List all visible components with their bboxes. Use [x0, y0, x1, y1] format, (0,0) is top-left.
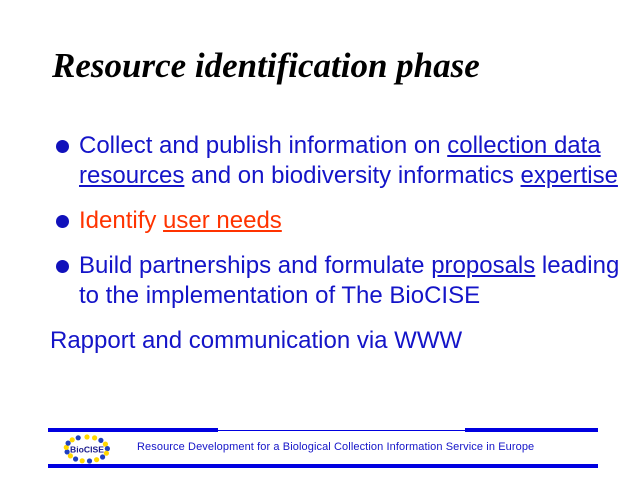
bullet-item-1: Collect and publish information on colle…: [48, 131, 623, 191]
closing-line: Rapport and communication via WWW: [48, 326, 623, 356]
footer-rule-top-middle: [218, 430, 465, 431]
bullet-3-segment-1: Build partnerships and formulate: [79, 252, 431, 279]
bullet-1-segment-1: Collect and publish information on: [79, 132, 447, 159]
footer-caption: Resource Development for a Biological Co…: [137, 440, 534, 454]
bullet-1-segment-4: expertise: [521, 162, 618, 189]
bullet-dot-icon: [56, 215, 69, 228]
bullet-1-segment-3: and on biodiversity informatics: [184, 162, 520, 189]
bullet-item-3: Build partnerships and formulate proposa…: [48, 251, 623, 311]
slide-body: Collect and publish information on colle…: [48, 131, 623, 356]
bullet-2-segment-1: Identify: [79, 207, 163, 234]
bullet-spacer-2: [48, 236, 623, 251]
bullet-item-2: Identify user needs: [48, 206, 623, 236]
footer-rule-top-left: [48, 428, 218, 432]
slide-canvas: Resource identification phase Collect an…: [0, 0, 640, 480]
footer-rule-bottom: [48, 464, 598, 468]
svg-text:BioCISE: BioCISE: [70, 445, 104, 455]
page-title: Resource identification phase: [52, 46, 612, 86]
bullet-spacer-3: [48, 311, 623, 326]
bullet-dot-icon: [56, 140, 69, 153]
bullet-spacer-1: [48, 191, 623, 206]
slide-footer: BioCISE Resource Development for a Biolo…: [0, 424, 640, 480]
bullet-2-segment-2: user needs: [163, 207, 282, 234]
bullet-3-segment-2: proposals: [431, 252, 535, 279]
footer-rule-top-right: [465, 428, 598, 432]
bullet-dot-icon: [56, 260, 69, 273]
biocise-logo: BioCISE: [63, 434, 111, 464]
